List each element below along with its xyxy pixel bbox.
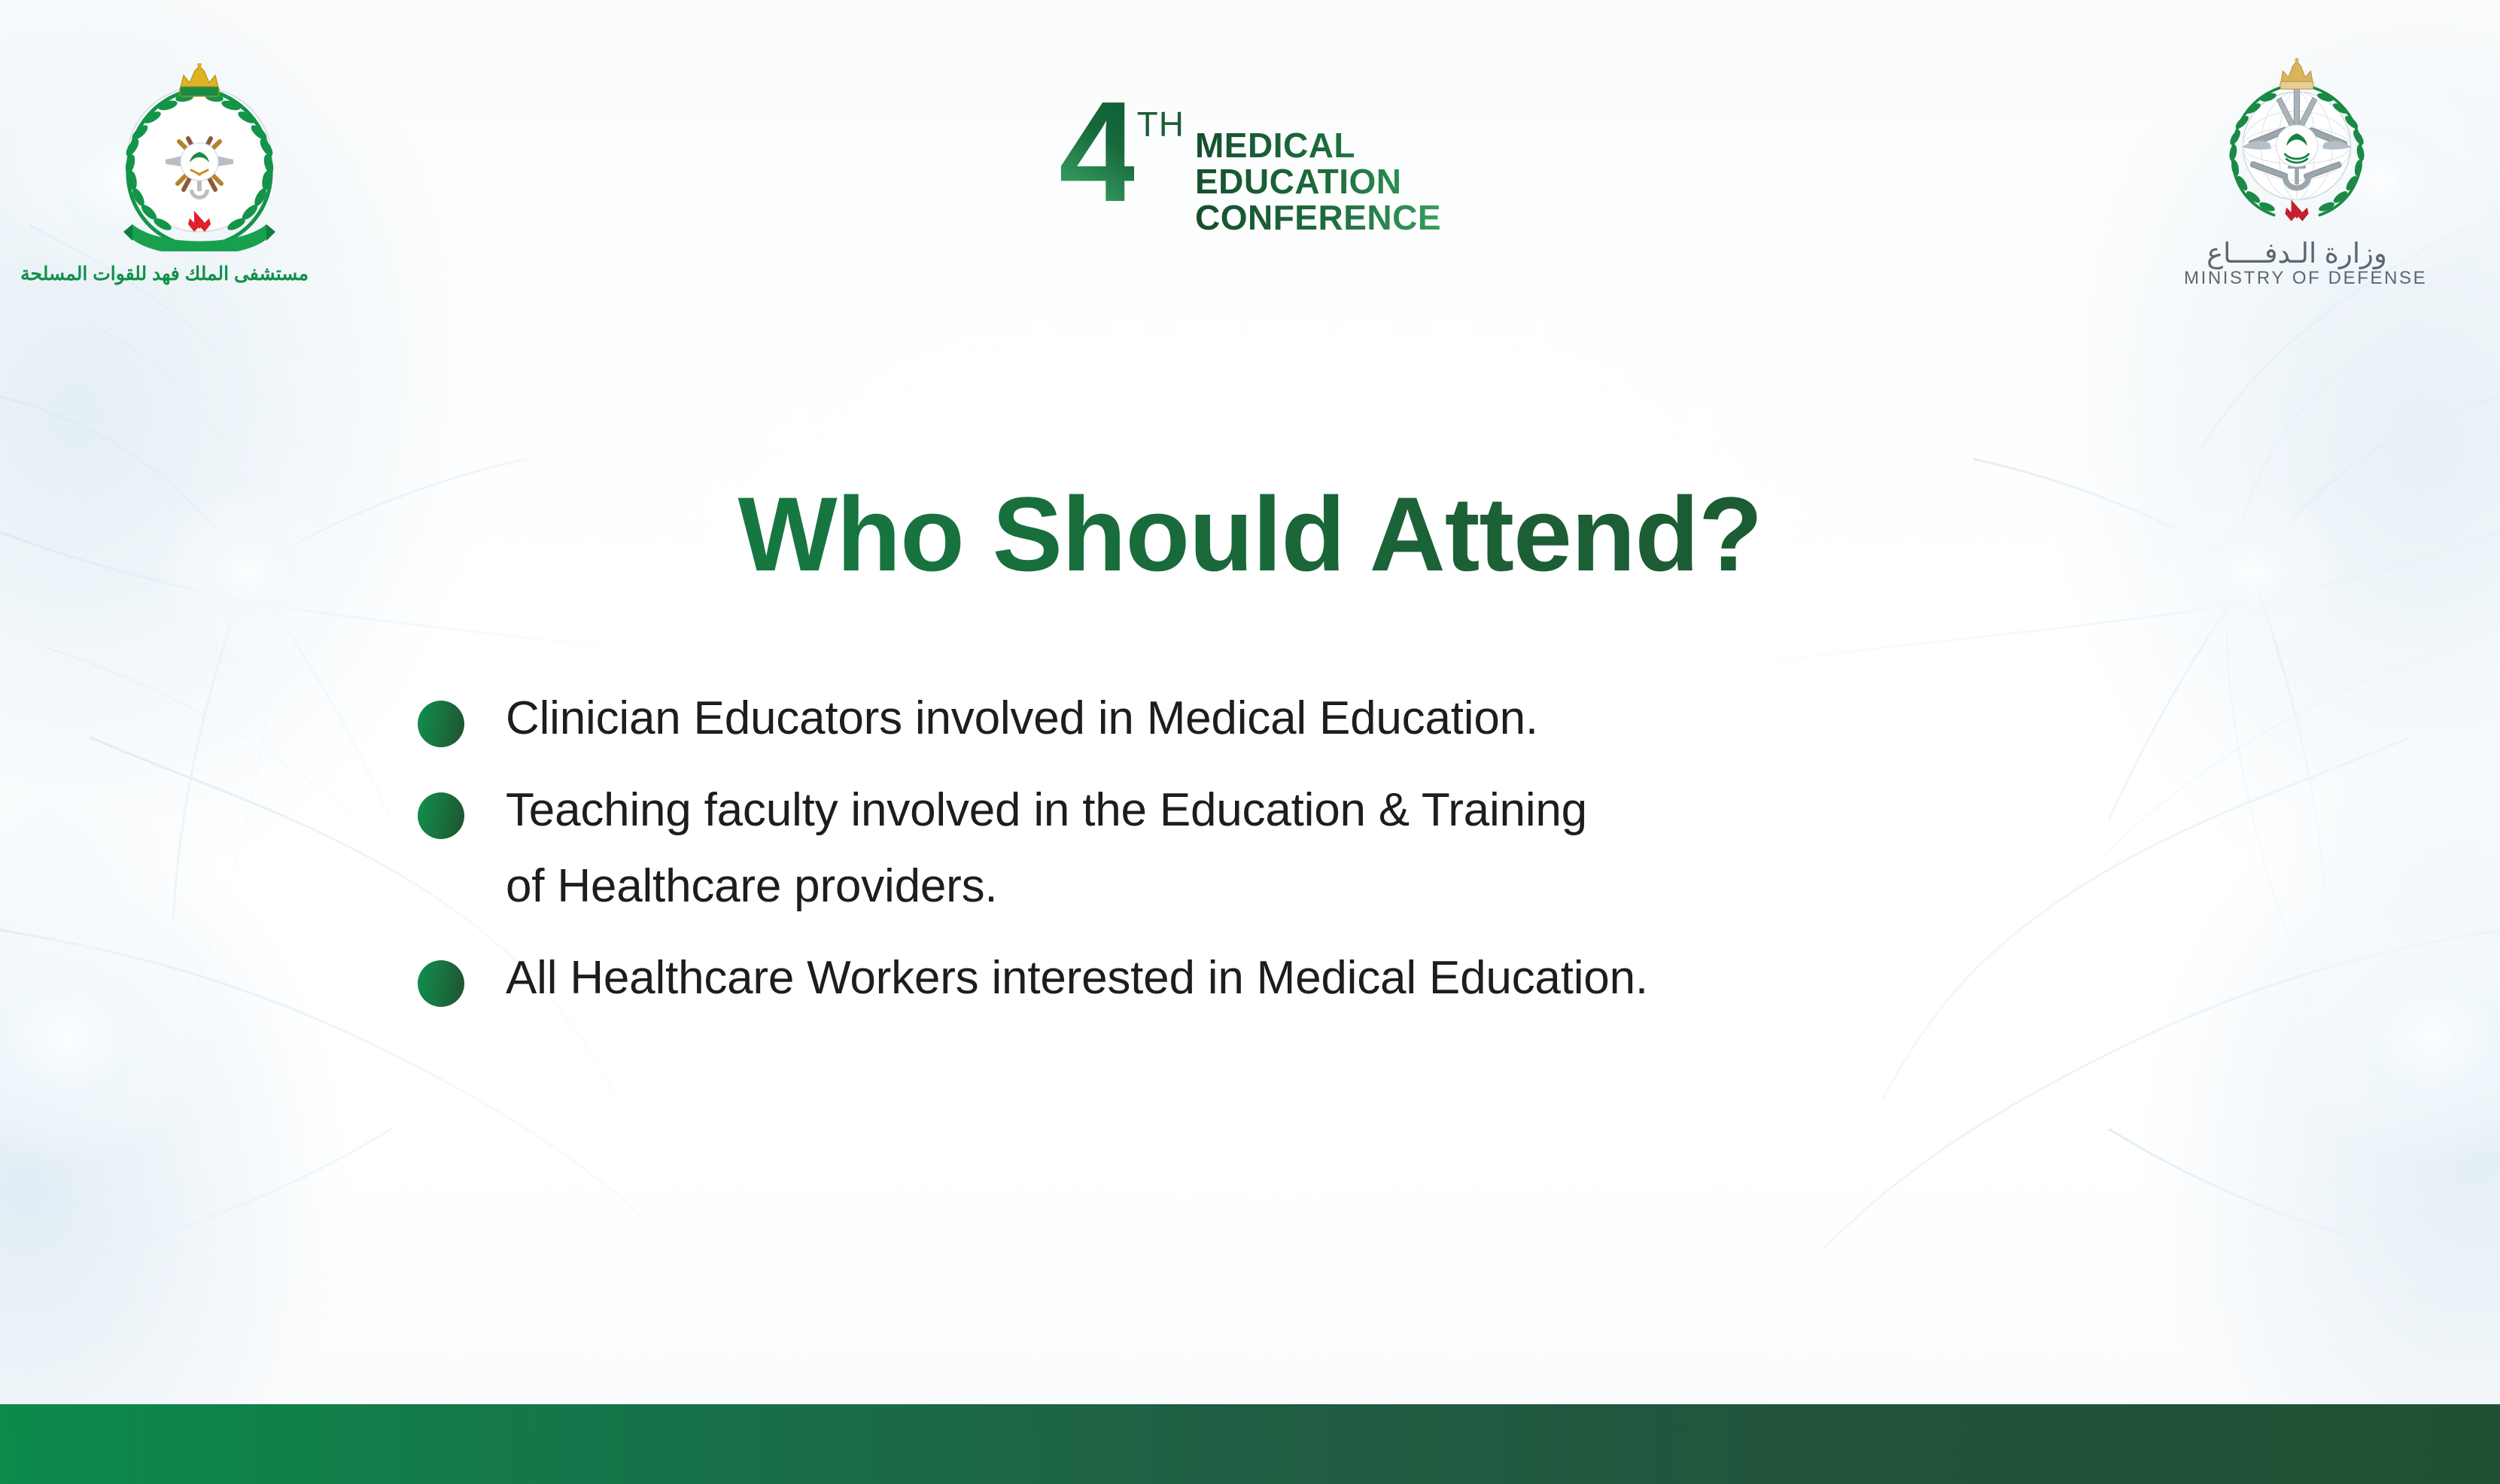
conference-edition-ordinal: TH [1137, 104, 1185, 144]
list-item-line: Teaching faculty involved in the Educati… [506, 784, 1587, 836]
bullet-dot-icon [418, 792, 464, 839]
list-item-text: Clinician Educators involved in Medical … [506, 681, 1538, 756]
bullet-dot-icon [418, 960, 464, 1007]
page-title: Who Should Attend? [0, 482, 2500, 587]
kfafh-emblem-icon [105, 63, 293, 251]
list-item: All Healthcare Workers interested in Med… [418, 941, 2224, 1016]
conference-logo-block: 4 TH MEDICAL EDUCATION CONFERENCE [1054, 96, 1446, 236]
right-logo-caption-english: MINISTRY OF DEFENSE [2184, 268, 2410, 289]
right-logo-block: وزارة الـدفــــاع MINISTRY OF DEFENSE [2184, 57, 2410, 289]
footer-accent-bar [0, 1404, 2500, 1484]
list-item: Clinician Educators involved in Medical … [418, 681, 2224, 756]
conference-edition-number: 4 [1059, 96, 1134, 208]
left-logo-block: مستشفى الملك فهد للقوات المسلحة [90, 63, 309, 285]
right-logo-caption-arabic: وزارة الـدفــــاع [2184, 237, 2410, 269]
list-item-line: All Healthcare Workers interested in Med… [506, 952, 1648, 1004]
list-item-text: Teaching faculty involved in the Educati… [506, 773, 1587, 924]
conference-line-conference: CONFERENCE [1195, 200, 1441, 236]
conference-line-medical: MEDICAL [1195, 128, 1441, 164]
conference-line-education: EDUCATION [1195, 164, 1441, 200]
slide-root: مستشفى الملك فهد للقوات المسلحة 4 TH MED… [0, 0, 2500, 1484]
list-item-text: All Healthcare Workers interested in Med… [506, 941, 1648, 1016]
left-logo-caption-arabic: مستشفى الملك فهد للقوات المسلحة [90, 263, 309, 285]
list-item-line: Clinician Educators involved in Medical … [506, 692, 1538, 744]
list-item-line-continuation: of Healthcare providers. [506, 849, 1587, 924]
bullet-dot-icon [418, 701, 464, 747]
conference-wordmark-lines: MEDICAL EDUCATION CONFERENCE [1195, 128, 1441, 236]
audience-list: Clinician Educators involved in Medical … [418, 681, 2224, 1033]
list-item: Teaching faculty involved in the Educati… [418, 773, 2224, 924]
ministry-of-defense-emblem-icon [2210, 57, 2383, 230]
